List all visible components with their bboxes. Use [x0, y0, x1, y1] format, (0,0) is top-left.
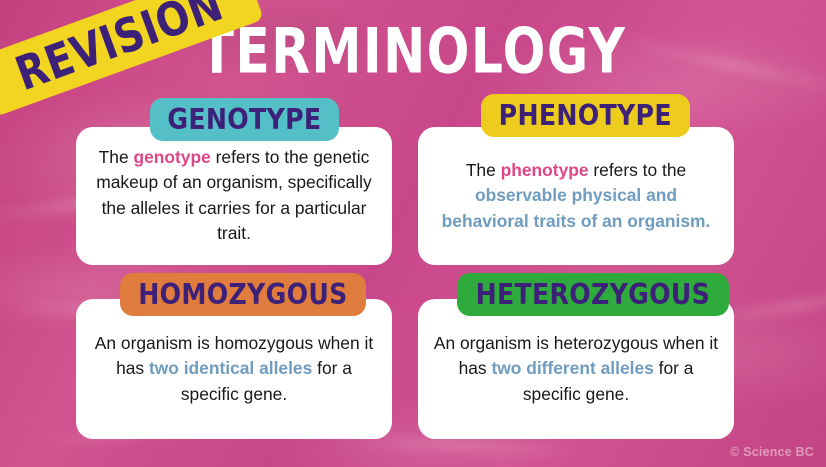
- badge-genotype: GENOTYPE: [150, 98, 339, 141]
- card-phenotype: The phenotype refers to the observable p…: [418, 127, 734, 265]
- card-phenotype-body: The phenotype refers to the observable p…: [430, 158, 722, 234]
- badge-phenotype-label: PHENOTYPE: [499, 99, 672, 132]
- card-genotype-body: The genotype refers to the genetic makeu…: [88, 145, 380, 247]
- card-heterozygous-body: An organism is heterozygous when it has …: [430, 331, 722, 407]
- slide-canvas: TERMINOLOGY REVISION The genotype refers…: [0, 0, 826, 467]
- badge-heterozygous: HETEROZYGOUS: [457, 273, 729, 316]
- badge-heterozygous-label: HETEROZYGOUS: [476, 278, 710, 311]
- badge-homozygous: HOMOZYGOUS: [120, 273, 366, 316]
- badge-homozygous-label: HOMOZYGOUS: [138, 278, 347, 311]
- card-genotype: The genotype refers to the genetic makeu…: [76, 127, 392, 265]
- card-homozygous: An organism is homozygous when it has tw…: [76, 299, 392, 439]
- watermark: © Science BC: [730, 445, 814, 459]
- card-heterozygous: An organism is heterozygous when it has …: [418, 299, 734, 439]
- badge-genotype-label: GENOTYPE: [167, 103, 321, 136]
- badge-phenotype: PHENOTYPE: [481, 94, 690, 137]
- card-homozygous-body: An organism is homozygous when it has tw…: [88, 331, 380, 407]
